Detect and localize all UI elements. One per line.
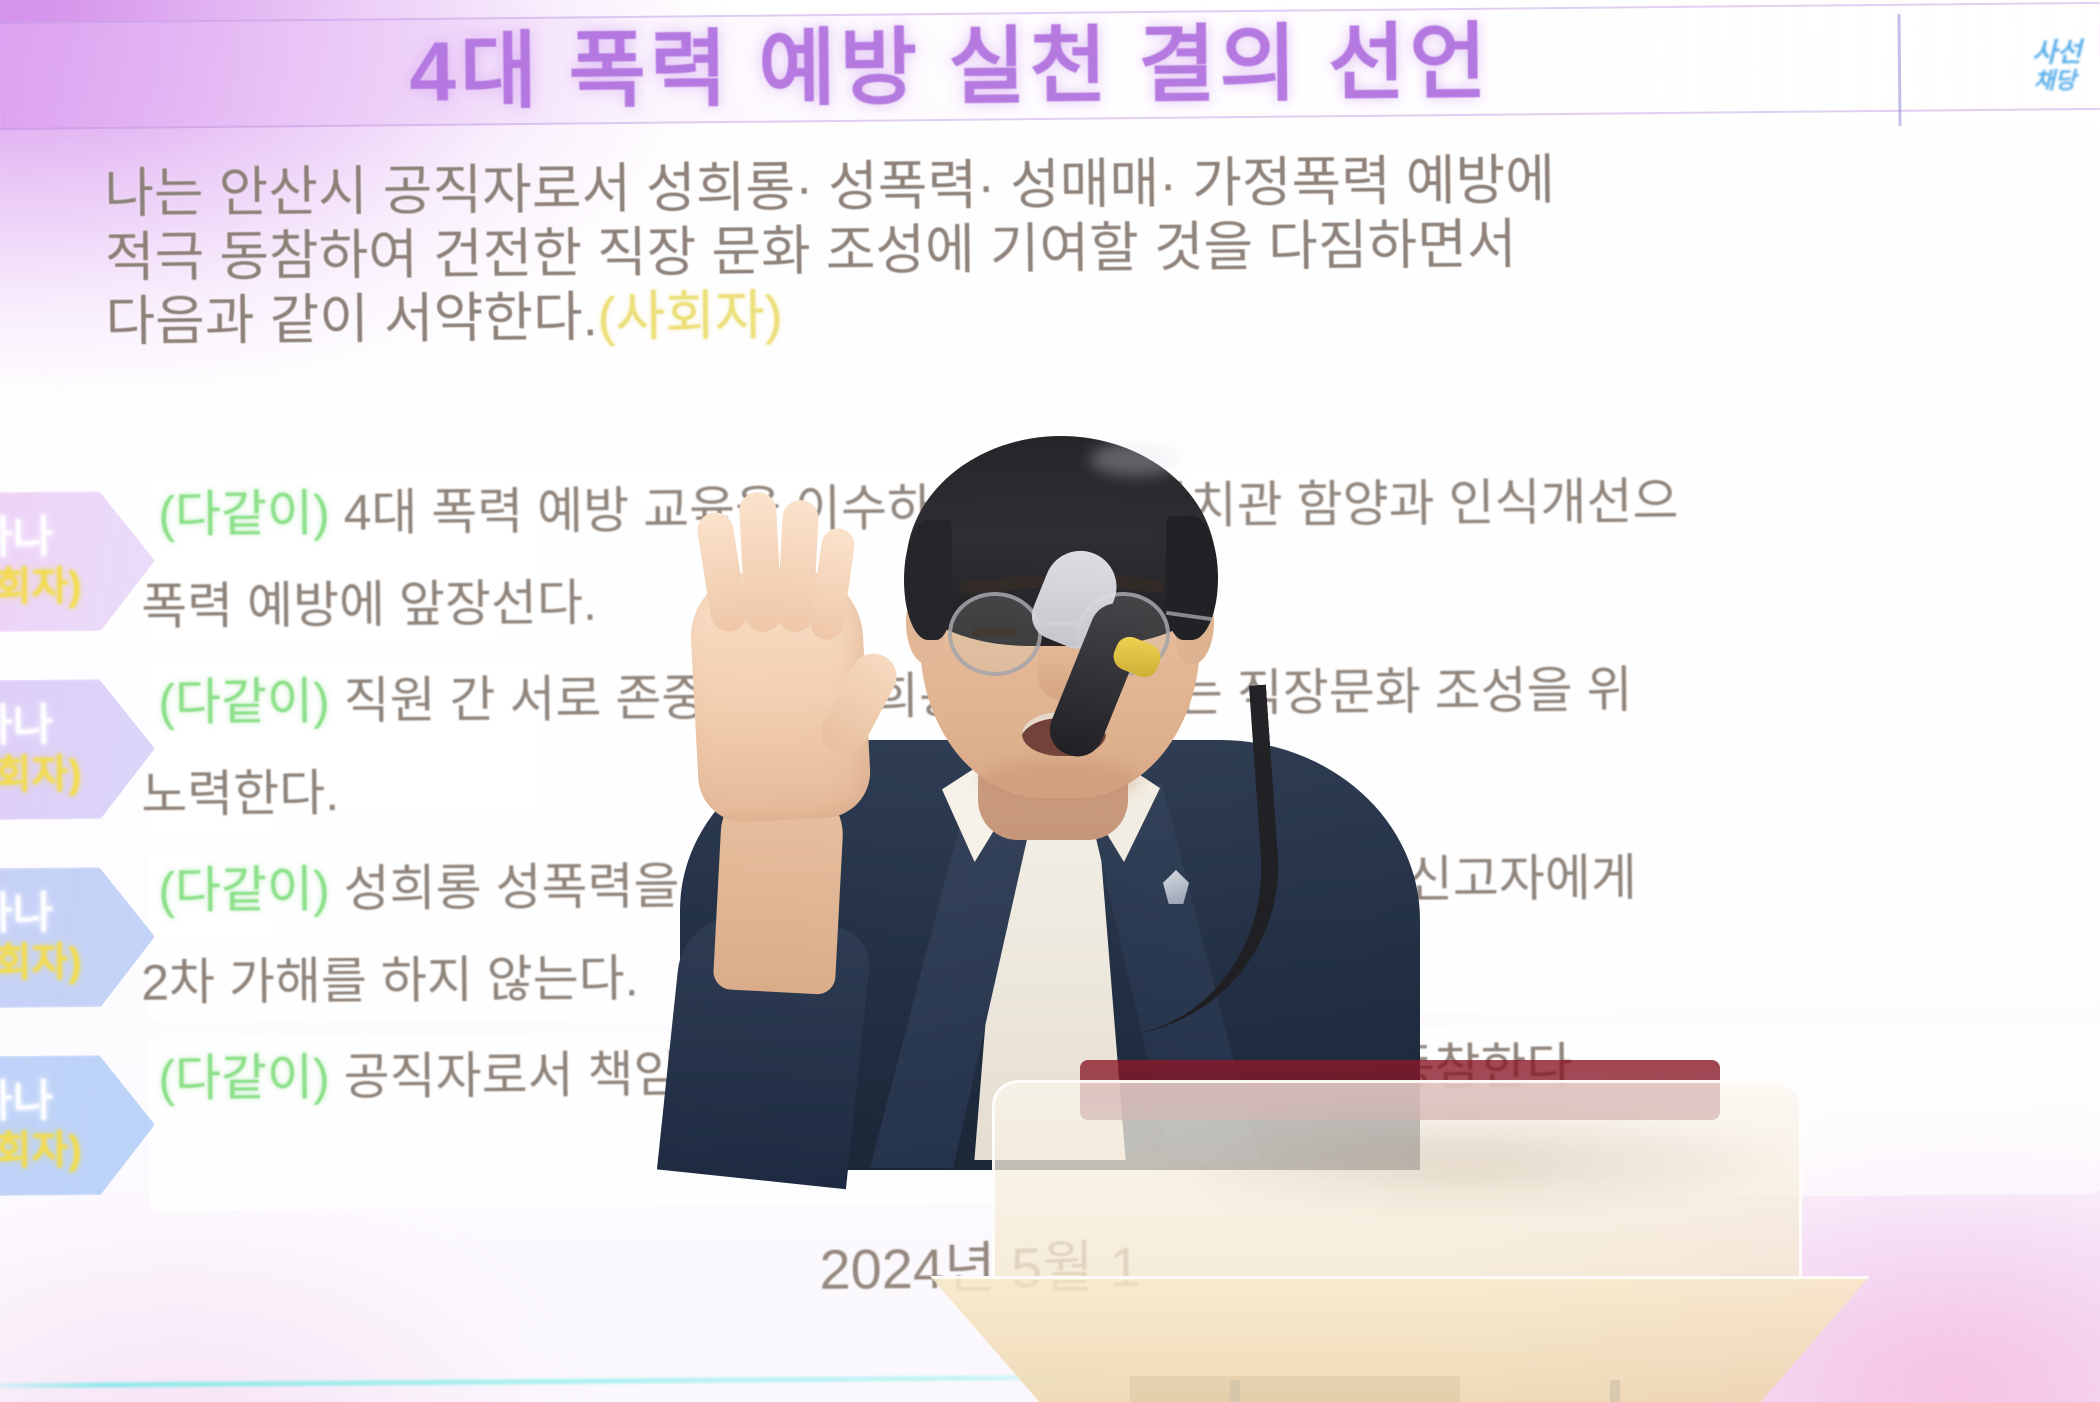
hair-side-left bbox=[904, 520, 952, 640]
speaker-figure bbox=[660, 400, 1440, 1160]
brand-logo: 사선 채당 bbox=[1912, 37, 2083, 127]
pledge-4-chorus-cue: (다같이) bbox=[158, 1049, 330, 1106]
pledge-tag-1-speaker: (사회자) bbox=[0, 562, 82, 611]
lectern bbox=[930, 1080, 1870, 1402]
brand-logo-line2: 채당 bbox=[1912, 68, 2082, 96]
lectern-top-panel bbox=[992, 1080, 1802, 1280]
pledge-tag-3-ordinal: 하나 bbox=[0, 889, 53, 940]
oath-line-3-main: 다음과 같이 서약한다. bbox=[105, 287, 598, 352]
lectern-leg-right bbox=[1610, 1380, 1620, 1402]
pledge-tag-2: 하나 (사회자) bbox=[0, 679, 155, 821]
pledge-tag-4-speaker: (사회자) bbox=[0, 1126, 82, 1175]
pledge-1-chorus-cue: (다같이) bbox=[158, 485, 330, 542]
pledge-tag-3-speaker: (사회자) bbox=[0, 938, 82, 987]
pledge-3-chorus-cue: (다같이) bbox=[158, 861, 330, 918]
brand-logo-line1: 사선 bbox=[1912, 37, 2082, 70]
screenshot-root: 4대 폭력 예방 실천 결의 선언 사선 채당 나는 안산시 공직자로서 성희롱… bbox=[0, 0, 2100, 1402]
pledge-tag-4: 하나 (사회자) bbox=[0, 1055, 155, 1197]
finger-middle bbox=[738, 491, 782, 633]
lectern-shadow bbox=[1135, 1105, 1795, 1215]
lectern-front-panel bbox=[930, 1276, 1870, 1402]
pledge-tag-1-ordinal: 하나 bbox=[0, 513, 53, 564]
slide-title: 4대 폭력 예방 실천 결의 선언 bbox=[0, 8, 1900, 126]
oath-paragraph: 나는 안산시 공직자로서 성희롱· 성폭력· 성매매· 가정폭력 예방에 적극 … bbox=[104, 147, 1706, 354]
pledge-tag-2-ordinal: 하나 bbox=[0, 701, 53, 752]
lectern-leg-left bbox=[1230, 1380, 1240, 1402]
eye-left bbox=[972, 628, 1018, 637]
pledge-tag-3: 하나 (사회자) bbox=[0, 867, 155, 1009]
pledge-2-chorus-cue: (다같이) bbox=[158, 673, 330, 730]
hair-side-right bbox=[1166, 516, 1218, 640]
oath-speaker-cue: (사회자) bbox=[597, 285, 783, 347]
pledge-tag-1: 하나 (사회자) bbox=[0, 491, 155, 633]
pledge-tag-4-ordinal: 하나 bbox=[0, 1077, 53, 1128]
pledge-tag-2-speaker: (사회자) bbox=[0, 750, 82, 799]
